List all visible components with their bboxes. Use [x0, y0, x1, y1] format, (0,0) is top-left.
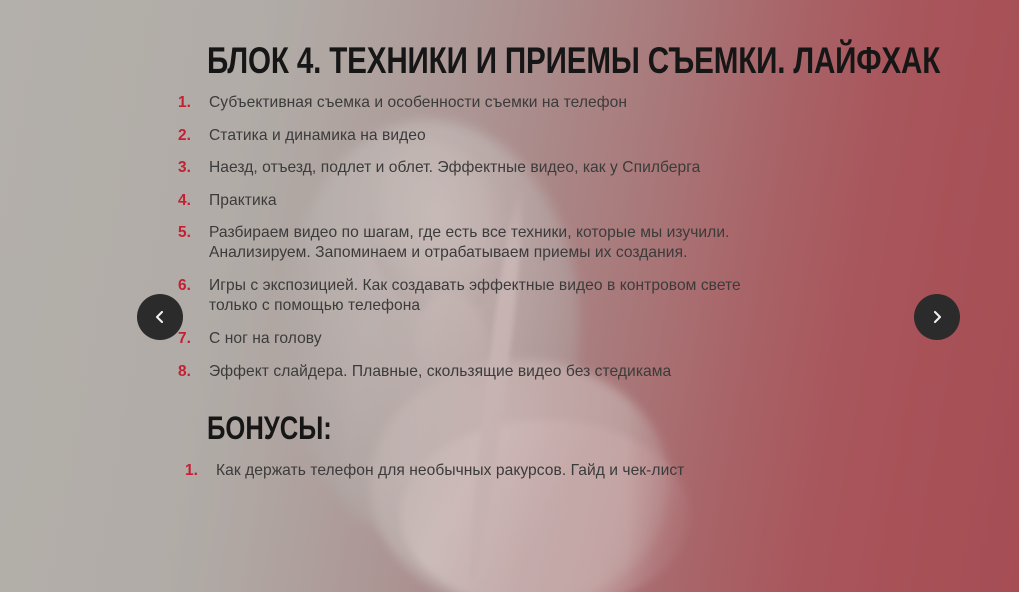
- bonus-section-title: БОНУСЫ:: [207, 410, 332, 446]
- list-item: 7. С ног на голову: [178, 329, 788, 349]
- list-item-number: 1.: [185, 461, 207, 481]
- list-item-label: С ног на голову: [209, 329, 788, 349]
- carousel-prev-button[interactable]: [137, 294, 183, 340]
- list-item-number: 4.: [178, 191, 200, 211]
- list-item-number: 3.: [178, 158, 200, 178]
- list-item: 1. Как держать телефон для необычных рак…: [185, 461, 795, 481]
- main-topics-list: 1. Субъективная съемка и особенности съе…: [178, 93, 788, 394]
- list-item-label: Статика и динамика на видео: [209, 126, 788, 146]
- chevron-right-icon: [929, 309, 945, 325]
- list-item-label: Наезд, отъезд, подлет и облет. Эффектные…: [209, 158, 788, 178]
- chevron-left-icon: [152, 309, 168, 325]
- slide-container: БЛОК 4. ТЕХНИКИ И ПРИЕМЫ СЪЕМКИ. ЛАЙФХАК…: [0, 0, 1019, 592]
- list-item: 6. Игры с экспозицией. Как создавать эфф…: [178, 276, 788, 315]
- list-item-number: 6.: [178, 276, 200, 296]
- carousel-next-button[interactable]: [914, 294, 960, 340]
- page-title: БЛОК 4. ТЕХНИКИ И ПРИЕМЫ СЪЕМКИ. ЛАЙФХАК: [207, 41, 940, 81]
- list-item-number: 2.: [178, 126, 200, 146]
- list-item: 4. Практика: [178, 191, 788, 211]
- list-item-number: 8.: [178, 362, 200, 382]
- list-item-number: 5.: [178, 223, 200, 243]
- list-item-number: 7.: [178, 329, 200, 349]
- list-item-number: 1.: [178, 93, 200, 113]
- list-item-label: Эффект слайдера. Плавные, скользящие вид…: [209, 362, 788, 382]
- list-item: 5. Разбираем видео по шагам, где есть вс…: [178, 223, 788, 262]
- list-item: 2. Статика и динамика на видео: [178, 126, 788, 146]
- list-item-label: Как держать телефон для необычных ракурс…: [216, 461, 795, 481]
- bonus-topics-list: 1. Как держать телефон для необычных рак…: [185, 461, 795, 494]
- list-item-label: Субъективная съемка и особенности съемки…: [209, 93, 788, 113]
- list-item-label: Игры с экспозицией. Как создавать эффект…: [209, 276, 788, 315]
- list-item: 3. Наезд, отъезд, подлет и облет. Эффект…: [178, 158, 788, 178]
- slide-content: БЛОК 4. ТЕХНИКИ И ПРИЕМЫ СЪЕМКИ. ЛАЙФХАК…: [178, 0, 898, 592]
- list-item: 1. Субъективная съемка и особенности съе…: [178, 93, 788, 113]
- list-item: 8. Эффект слайдера. Плавные, скользящие …: [178, 362, 788, 382]
- list-item-label: Практика: [209, 191, 788, 211]
- list-item-label: Разбираем видео по шагам, где есть все т…: [209, 223, 788, 262]
